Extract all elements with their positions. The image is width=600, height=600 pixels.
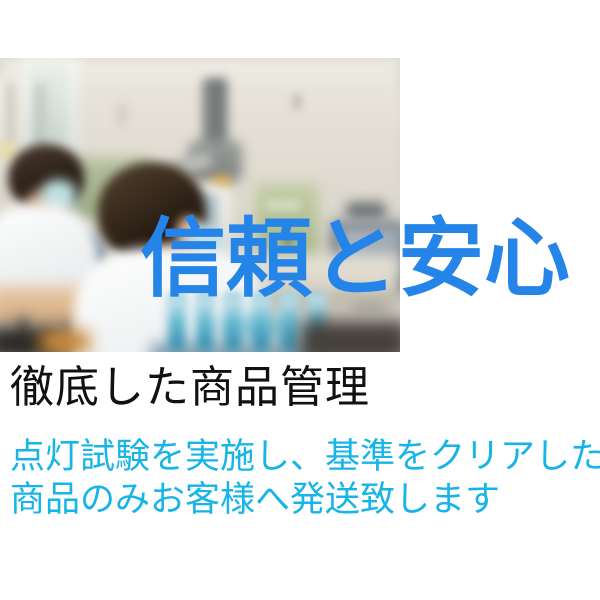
photo-wall-fixture <box>292 94 302 110</box>
photo-left-cabinet-edge <box>6 82 15 146</box>
body-line-2: 商品のみお客様へ発送致します <box>10 479 600 522</box>
headline-text: 信頼と安心 <box>140 216 570 302</box>
photo-foreground-shadow-right <box>300 320 400 352</box>
photo-yellow-note <box>0 142 16 158</box>
promo-banner: 信頼と安心 徹底した商品管理 点灯試験を実施し、基準をクリアした 商品のみお客様… <box>0 0 600 600</box>
body-copy: 点灯試験を実施し、基準をクリアした 商品のみお客様へ発送致します <box>10 436 600 522</box>
body-line-1: 点灯試験を実施し、基準をクリアした <box>10 436 600 479</box>
photo-wall-fixture-2 <box>118 104 126 126</box>
subtitle-text: 徹底した商品管理 <box>10 366 370 410</box>
photo-foreground-object <box>40 330 90 352</box>
